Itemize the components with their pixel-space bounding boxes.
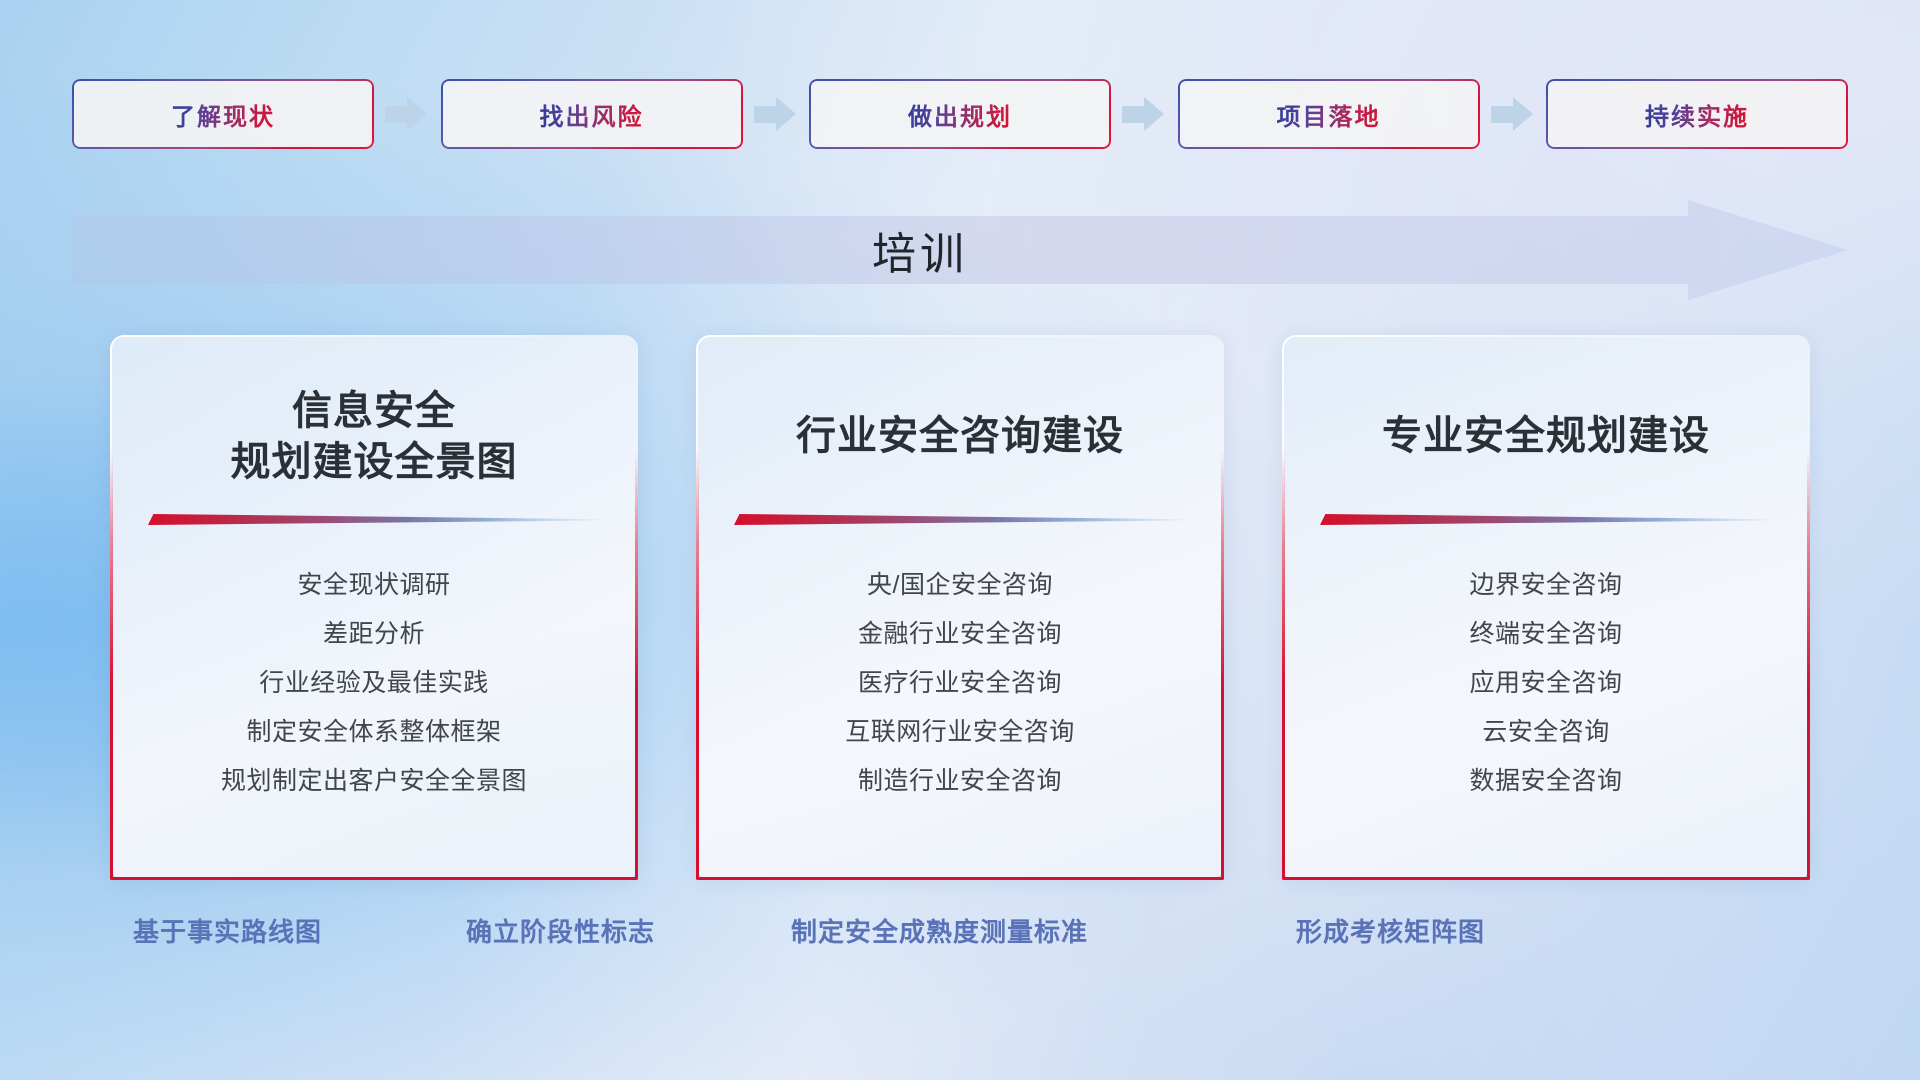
content-card-1[interactable]: 信息安全 规划建设全景图 安全现状调研 差距分析 行业经验及最佳实践 制定安全体… xyxy=(110,335,638,880)
card-title-line: 规划建设全景图 xyxy=(231,437,518,488)
card-list-item: 医疗行业安全咨询 xyxy=(730,659,1190,708)
arrow-right-icon xyxy=(754,97,798,131)
footnote-label: 确立阶段性标志 xyxy=(466,912,655,949)
arrow-right-icon xyxy=(1491,97,1535,131)
content-card-2[interactable]: 行业安全咨询建设 央/国企安全咨询 金融行业安全咨询 医疗行业安全咨询 互联网行… xyxy=(696,335,1224,880)
card-title: 信息安全 规划建设全景图 xyxy=(231,385,518,489)
card-list-item: 安全现状调研 xyxy=(144,561,604,610)
card-list-item: 应用安全咨询 xyxy=(1316,659,1776,708)
process-step-2[interactable]: 找出风险 xyxy=(441,79,743,149)
arrow-head xyxy=(1144,97,1164,131)
card-list-item: 行业经验及最佳实践 xyxy=(144,659,604,708)
footnote-label: 制定安全成熟度测量标准 xyxy=(791,912,1088,949)
card-divider xyxy=(730,511,1190,527)
arrow-head xyxy=(407,97,427,131)
process-step-4[interactable]: 项目落地 xyxy=(1178,79,1480,149)
card-item-list: 边界安全咨询 终端安全咨询 应用安全咨询 云安全咨询 数据安全咨询 xyxy=(1316,561,1776,806)
process-step-3[interactable]: 做出规划 xyxy=(809,79,1111,149)
card-rail-right xyxy=(1221,450,1224,880)
footnote-label: 基于事实路线图 xyxy=(133,912,322,949)
card-rail-bottom xyxy=(696,877,1224,880)
card-divider-bar xyxy=(734,513,1186,525)
card-list-item: 央/国企安全咨询 xyxy=(730,561,1190,610)
card-divider xyxy=(1316,511,1776,527)
banner-title: 培训 xyxy=(72,200,1848,300)
card-rail-right xyxy=(635,450,638,880)
card-title-line: 信息安全 xyxy=(231,386,518,437)
process-step-label: 了解现状 xyxy=(171,97,275,132)
card-list-item: 规划制定出客户安全全景图 xyxy=(144,757,604,806)
card-rail-left xyxy=(110,450,113,880)
card-list-item: 差距分析 xyxy=(144,610,604,659)
card-divider-bar xyxy=(1320,513,1772,525)
card-rail-right xyxy=(1807,450,1810,880)
card-list-item: 边界安全咨询 xyxy=(1316,561,1776,610)
process-step-label: 做出规划 xyxy=(908,97,1012,132)
card-rail-bottom xyxy=(1282,877,1810,880)
card-title-line: 专业安全规划建设 xyxy=(1382,411,1710,462)
card-list-item: 制定安全体系整体框架 xyxy=(144,708,604,757)
process-step-5[interactable]: 持续实施 xyxy=(1546,79,1848,149)
process-step-label: 持续实施 xyxy=(1645,97,1749,132)
card-title: 专业安全规划建设 xyxy=(1382,385,1710,489)
arrow-head xyxy=(776,97,796,131)
card-row: 信息安全 规划建设全景图 安全现状调研 差距分析 行业经验及最佳实践 制定安全体… xyxy=(110,335,1810,880)
card-rail-left xyxy=(1282,450,1285,880)
arrow-head xyxy=(1513,97,1533,131)
training-banner: 培训 xyxy=(72,200,1848,300)
card-list-item: 数据安全咨询 xyxy=(1316,757,1776,806)
arrow-right-icon xyxy=(1122,97,1166,131)
process-steps: 了解现状 找出风险 做出规划 项目落地 持续实施 xyxy=(72,78,1848,150)
card-divider xyxy=(144,511,604,527)
process-step-1[interactable]: 了解现状 xyxy=(72,79,374,149)
arrow-right-icon xyxy=(385,97,429,131)
card-list-item: 云安全咨询 xyxy=(1316,708,1776,757)
card-title-line: 行业安全咨询建设 xyxy=(796,411,1124,462)
card-rail-bottom xyxy=(110,877,638,880)
card-title: 行业安全咨询建设 xyxy=(796,385,1124,489)
card-divider-bar xyxy=(148,513,600,525)
footnote-label: 形成考核矩阵图 xyxy=(1296,912,1485,949)
footnote-row: 基于事实路线图 确立阶段性标志 制定安全成熟度测量标准 形成考核矩阵图 xyxy=(0,912,1920,962)
process-step-label: 找出风险 xyxy=(540,97,644,132)
card-item-list: 安全现状调研 差距分析 行业经验及最佳实践 制定安全体系整体框架 规划制定出客户… xyxy=(144,561,604,806)
card-list-item: 互联网行业安全咨询 xyxy=(730,708,1190,757)
card-list-item: 金融行业安全咨询 xyxy=(730,610,1190,659)
process-step-label: 项目落地 xyxy=(1277,97,1381,132)
card-list-item: 终端安全咨询 xyxy=(1316,610,1776,659)
content-card-3[interactable]: 专业安全规划建设 边界安全咨询 终端安全咨询 应用安全咨询 云安全咨询 数据安全… xyxy=(1282,335,1810,880)
card-rail-left xyxy=(696,450,699,880)
card-item-list: 央/国企安全咨询 金融行业安全咨询 医疗行业安全咨询 互联网行业安全咨询 制造行… xyxy=(730,561,1190,806)
card-list-item: 制造行业安全咨询 xyxy=(730,757,1190,806)
slide-root: 了解现状 找出风险 做出规划 项目落地 持续实施 xyxy=(0,0,1920,1080)
